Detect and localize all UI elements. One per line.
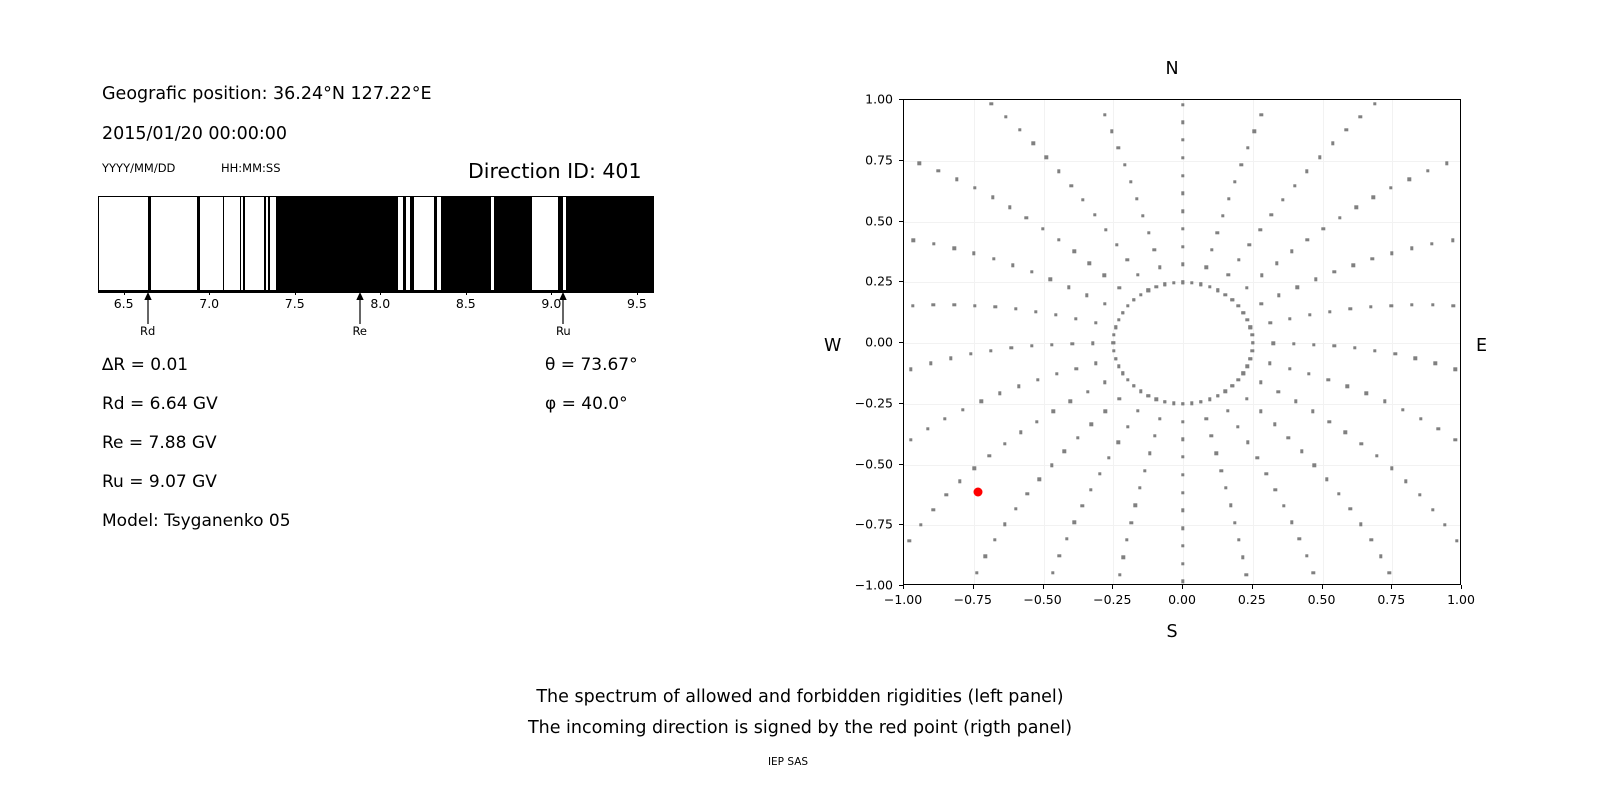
direction-dot	[1003, 522, 1006, 525]
x-axis-tick-label: −0.25	[1093, 592, 1131, 607]
direction-dot	[909, 438, 912, 441]
direction-dot	[909, 367, 912, 370]
spectrum-marker-label-re: Re	[352, 324, 367, 338]
spectrum-marker-arrow-ru	[557, 292, 570, 324]
direction-dot	[1245, 397, 1248, 400]
spectrum-tick-label: 8.5	[456, 296, 476, 311]
direction-dot	[1236, 425, 1239, 428]
forbidden-band	[410, 197, 414, 290]
direction-dot	[908, 539, 911, 542]
direction-dot	[969, 352, 972, 355]
direction-dot	[1312, 343, 1315, 346]
direction-dot	[1277, 390, 1280, 393]
x-axis-tick-label: 0.75	[1377, 592, 1405, 607]
direction-dot	[1199, 400, 1202, 403]
direction-dot	[1104, 228, 1107, 231]
direction-dot	[990, 102, 993, 105]
direction-dot	[1305, 170, 1308, 173]
direction-dot	[1072, 521, 1075, 524]
x-axis-tick-mark	[1322, 585, 1323, 589]
direction-dot	[1414, 357, 1417, 360]
x-axis-tick-label: 0.50	[1308, 592, 1336, 607]
y-axis-tick-label: 1.00	[841, 92, 893, 107]
direction-dot	[1014, 307, 1017, 310]
direction-dot	[1246, 440, 1249, 443]
spectrum-axis-line	[98, 291, 654, 293]
direction-dot	[973, 466, 976, 469]
forbidden-band	[148, 197, 151, 290]
forbidden-band	[243, 197, 245, 290]
direction-dot	[1126, 378, 1129, 381]
direction-dot	[1103, 381, 1106, 384]
direction-dot	[1121, 372, 1124, 375]
direction-dot	[1390, 251, 1393, 254]
gridline-horizontal	[904, 343, 1460, 344]
direction-dot	[1287, 436, 1290, 439]
direction-dot	[1117, 146, 1120, 149]
direction-dot	[1241, 556, 1244, 559]
direction-dot	[1258, 228, 1261, 231]
direction-dot	[1126, 304, 1129, 307]
direction-dot	[1431, 508, 1434, 511]
param-delta-r: ∆R = 0.01	[102, 355, 188, 375]
time-format-hint: HH:MM:SS	[221, 161, 281, 175]
direction-dot	[973, 304, 976, 307]
direction-dot	[1245, 573, 1248, 576]
direction-dot	[1210, 434, 1213, 437]
direction-dot	[1208, 397, 1211, 400]
direction-dot	[1226, 273, 1229, 276]
direction-dot	[1181, 227, 1184, 230]
y-axis-tick-label: −0.50	[841, 456, 893, 471]
direction-dot	[1190, 281, 1193, 284]
y-axis-tick-mark	[899, 160, 903, 161]
direction-dot	[1181, 473, 1184, 476]
direction-dot	[1153, 434, 1156, 437]
direction-dot	[1372, 196, 1375, 199]
direction-dot	[1454, 438, 1457, 441]
direction-dot	[1434, 362, 1437, 365]
direction-dot	[1216, 231, 1219, 234]
direction-dot	[1037, 478, 1040, 481]
direction-dot	[1445, 161, 1448, 164]
direction-dot	[1290, 521, 1293, 524]
direction-dot	[1057, 170, 1060, 173]
direction-dot	[1181, 580, 1184, 583]
direction-dot	[1327, 420, 1330, 423]
direction-dot	[1112, 349, 1115, 352]
direction-dot	[1249, 357, 1252, 360]
direction-dot	[1220, 469, 1223, 472]
gridline-vertical	[974, 100, 975, 584]
direction-dot	[1075, 367, 1078, 370]
direction-dot	[1277, 294, 1280, 297]
direction-dot	[1205, 417, 1208, 420]
direction-dot	[1035, 420, 1038, 423]
direction-dot	[1085, 294, 1088, 297]
direction-dot	[1118, 397, 1121, 400]
forbidden-band	[558, 197, 563, 290]
direction-dot	[1242, 372, 1245, 375]
direction-dot	[1224, 293, 1227, 296]
direction-dot	[1011, 263, 1014, 266]
direction-dot	[1259, 302, 1262, 305]
direction-dot	[1332, 270, 1335, 273]
direction-dot	[1051, 571, 1054, 574]
y-axis-tick-mark	[899, 524, 903, 525]
direction-dot	[1281, 198, 1284, 201]
direction-dot	[952, 246, 955, 249]
direction-dot	[988, 454, 991, 457]
direction-dot	[1443, 523, 1446, 526]
direction-dot	[1041, 227, 1044, 230]
direction-dot	[1034, 310, 1037, 313]
direction-dot	[1369, 538, 1372, 541]
direction-dot	[1129, 521, 1132, 524]
gridline-horizontal	[904, 161, 1460, 162]
direction-dot	[1246, 318, 1249, 321]
direction-dot	[1360, 442, 1363, 445]
direction-dot	[991, 196, 994, 199]
direction-dot	[955, 177, 958, 180]
direction-dot	[1138, 486, 1141, 489]
spectrum-marker-arrow-re	[353, 292, 366, 324]
direction-dot	[1074, 317, 1077, 320]
direction-dot	[972, 251, 975, 254]
direction-dot	[1215, 452, 1218, 455]
direction-dot	[1250, 333, 1253, 336]
spectrum-tick-mark	[551, 291, 552, 295]
direction-dot	[1237, 258, 1240, 261]
x-axis-tick-mark	[1043, 585, 1044, 589]
param-re: Re = 7.88 GV	[102, 433, 217, 453]
direction-dot	[1122, 556, 1125, 559]
direction-dot	[1227, 197, 1230, 200]
direction-dot	[1359, 522, 1362, 525]
direction-dot	[1311, 409, 1314, 412]
x-axis-tick-label: −0.75	[954, 592, 992, 607]
direction-dot	[1270, 213, 1273, 216]
direction-id-text: Direction ID: 401	[468, 159, 642, 183]
direction-dot	[1245, 286, 1248, 289]
forbidden-band	[264, 197, 266, 290]
direction-dot	[1430, 242, 1433, 245]
direction-dot	[1345, 128, 1348, 131]
direction-dot	[1221, 214, 1224, 217]
gridline-vertical	[1044, 100, 1045, 584]
direction-dot	[1181, 438, 1184, 441]
direction-dot	[932, 242, 935, 245]
direction-dot	[1181, 491, 1184, 494]
direction-dot	[1419, 417, 1422, 420]
y-axis-tick-label: 0.50	[841, 213, 893, 228]
direction-dot	[1453, 367, 1456, 370]
direction-dot	[1155, 285, 1158, 288]
direction-dot	[952, 303, 955, 306]
direction-dot	[980, 399, 983, 402]
direction-dot	[1018, 128, 1021, 131]
direction-dot	[932, 303, 935, 306]
direction-dot	[1076, 436, 1079, 439]
direction-dot	[1030, 344, 1033, 347]
direction-dot	[1070, 184, 1073, 187]
y-axis-tick-mark	[899, 403, 903, 404]
direction-dot	[1181, 209, 1184, 212]
direction-dot	[989, 349, 992, 352]
direction-dot	[1121, 311, 1124, 314]
direction-dot	[1112, 333, 1115, 336]
direction-dot	[1259, 410, 1262, 413]
direction-dot	[1418, 493, 1421, 496]
direction-dot	[1114, 326, 1117, 329]
date-format-hint: YYYY/MM/DD	[102, 161, 175, 175]
direction-dot	[1045, 155, 1048, 158]
datetime-text: 2015/01/20 00:00:00	[102, 124, 287, 144]
spectrum-tick-mark	[209, 291, 210, 295]
direction-dot	[912, 239, 915, 242]
direction-dot	[1141, 214, 1144, 217]
direction-dot	[1055, 372, 1058, 375]
direction-dot	[1181, 263, 1184, 266]
direction-dot	[961, 408, 964, 411]
spectrum-tick-mark	[637, 291, 638, 295]
param-ru: Ru = 9.07 GV	[102, 472, 217, 492]
direction-dot	[1148, 452, 1151, 455]
direction-dot	[1237, 378, 1240, 381]
direction-dot	[1146, 289, 1149, 292]
direction-dot	[1373, 349, 1376, 352]
direction-dot	[1268, 321, 1271, 324]
direction-dot	[1052, 409, 1055, 412]
direction-dot	[1010, 346, 1013, 349]
direction-dot	[1139, 293, 1142, 296]
direction-dot	[1308, 313, 1311, 316]
direction-dot	[1404, 480, 1407, 483]
direction-dot	[1344, 431, 1347, 434]
direction-dot	[1071, 342, 1074, 345]
direction-dot	[1373, 102, 1376, 105]
direction-dot	[1375, 454, 1378, 457]
direction-dot	[1431, 303, 1434, 306]
y-axis-tick-label: −0.25	[841, 395, 893, 410]
direction-dot	[1199, 283, 1202, 286]
direction-dot	[1452, 304, 1455, 307]
compass-label-east: E	[1476, 336, 1487, 356]
direction-dot	[1117, 365, 1120, 368]
direction-dot	[1229, 503, 1232, 506]
direction-dot	[926, 427, 929, 430]
direction-dot	[1369, 305, 1372, 308]
direction-dot	[1123, 163, 1126, 166]
spectrum-tick-label: 8.0	[370, 296, 390, 311]
direction-dot	[1298, 537, 1301, 540]
direction-dot	[1135, 197, 1138, 200]
forbidden-band	[494, 197, 532, 290]
direction-dot	[911, 304, 914, 307]
x-axis-tick-label: −0.50	[1023, 592, 1061, 607]
direction-dot	[1065, 537, 1068, 540]
direction-dot	[932, 508, 935, 511]
direction-dot	[1273, 423, 1276, 426]
param-phi: φ = 40.0°	[545, 394, 628, 414]
direction-dot	[1359, 115, 1362, 118]
direction-dot	[1086, 390, 1089, 393]
param-theta: θ = 73.67°	[545, 355, 638, 375]
direction-dot	[1290, 250, 1293, 253]
direction-dot	[1125, 538, 1128, 541]
direction-dot	[1348, 507, 1351, 510]
direction-dot	[1049, 278, 1052, 281]
caption-line-2: The incoming direction is signed by the …	[528, 718, 1072, 738]
direction-dot	[1451, 239, 1454, 242]
x-axis-tick-mark	[973, 585, 974, 589]
direction-dot	[917, 161, 920, 164]
gridline-vertical	[1392, 100, 1393, 584]
direction-dot	[1181, 402, 1184, 405]
direction-dot	[1313, 463, 1316, 466]
y-axis-tick-mark	[899, 464, 903, 465]
direction-dot	[937, 169, 940, 172]
direction-dot	[1307, 372, 1310, 375]
direction-dot	[1282, 504, 1285, 507]
direction-dot	[929, 362, 932, 365]
direction-dot	[1294, 400, 1297, 403]
direction-dot	[1115, 243, 1118, 246]
direction-dot	[1292, 342, 1295, 345]
direction-dot	[1426, 169, 1429, 172]
direction-dot	[1388, 571, 1391, 574]
direction-dot	[1250, 349, 1253, 352]
x-axis-tick-label: 0.25	[1238, 592, 1266, 607]
direction-dot	[1338, 216, 1341, 219]
spectrum-marker-label-ru: Ru	[556, 324, 571, 338]
rigidity-spectrum-bar	[98, 196, 654, 291]
direction-dot	[1054, 313, 1057, 316]
direction-dot	[1346, 385, 1349, 388]
direction-dot	[1246, 146, 1249, 149]
direction-dot	[1249, 326, 1252, 329]
direction-dot	[1393, 352, 1396, 355]
y-axis-tick-label: 0.00	[841, 335, 893, 350]
x-axis-tick-mark	[1182, 585, 1183, 589]
direction-dot	[1208, 285, 1211, 288]
direction-dot	[1455, 539, 1458, 542]
direction-dot	[1050, 343, 1053, 346]
direction-dot	[1224, 389, 1227, 392]
incoming-direction-point[interactable]	[973, 488, 982, 497]
direction-dot	[1181, 156, 1184, 159]
direction-dot	[1216, 394, 1219, 397]
direction-dot	[993, 538, 996, 541]
direction-dot	[1293, 184, 1296, 187]
direction-dot	[1147, 231, 1150, 234]
direction-dot	[1118, 573, 1121, 576]
caption-line-1: The spectrum of allowed and forbidden ri…	[536, 687, 1063, 707]
direction-dot	[1407, 177, 1410, 180]
forbidden-band	[566, 197, 654, 290]
direction-dot	[1081, 198, 1084, 201]
direction-dot	[1058, 554, 1061, 557]
incoming-direction-chart: −1.00−0.75−0.50−0.250.000.250.500.751.00…	[903, 99, 1461, 585]
x-axis-tick-mark	[903, 585, 904, 589]
rigidity-spectrum-chart: 6.57.07.58.08.59.09.5 RdReRu	[98, 196, 654, 291]
direction-dot	[1181, 121, 1184, 124]
direction-dot	[1275, 261, 1278, 264]
direction-dot	[1126, 425, 1129, 428]
direction-dot	[1136, 273, 1139, 276]
direction-dot	[1026, 492, 1029, 495]
direction-dot	[1181, 509, 1184, 512]
direction-dot	[1305, 554, 1308, 557]
direction-dot	[1331, 142, 1334, 145]
compass-label-west: W	[824, 336, 841, 356]
y-axis-tick-mark	[899, 585, 903, 586]
direction-dot	[945, 493, 948, 496]
direction-dot	[1104, 410, 1107, 413]
direction-dot	[1216, 289, 1219, 292]
direction-dot	[1181, 245, 1184, 248]
direction-dot	[1306, 238, 1309, 241]
direction-dot	[1117, 440, 1120, 443]
spectrum-tick-mark	[380, 291, 381, 295]
x-axis-tick-mark	[1112, 585, 1113, 589]
direction-dot	[1143, 469, 1146, 472]
direction-dot	[994, 305, 997, 308]
direction-dot	[1103, 113, 1106, 116]
direction-dot	[1237, 304, 1240, 307]
forbidden-band	[441, 197, 490, 290]
direction-dot	[1410, 303, 1413, 306]
param-model: Model: Tsyganenko 05	[102, 511, 291, 531]
direction-dot	[919, 523, 922, 526]
direction-dot	[1181, 544, 1184, 547]
x-axis-tick-label: 0.00	[1168, 592, 1196, 607]
direction-dot	[1300, 450, 1303, 453]
direction-dot	[1260, 113, 1263, 116]
direction-dot	[1163, 283, 1166, 286]
direction-dot	[1091, 341, 1094, 344]
direction-dot	[1333, 344, 1336, 347]
direction-dot	[1410, 246, 1413, 249]
direction-dot	[1181, 281, 1184, 284]
footer-credit: IEP SAS	[768, 756, 808, 768]
direction-dot	[1014, 507, 1017, 510]
gridline-vertical	[1323, 100, 1324, 584]
spectrum-tick-label: 6.5	[114, 296, 134, 311]
spectrum-tick-mark	[295, 291, 296, 295]
direction-dot	[1057, 238, 1060, 241]
direction-dot	[1268, 362, 1271, 365]
direction-dot	[1017, 385, 1020, 388]
x-axis-tick-mark	[1391, 585, 1392, 589]
direction-dot	[1132, 298, 1135, 301]
direction-dot	[1224, 486, 1227, 489]
forbidden-band	[240, 197, 242, 290]
direction-dot	[1437, 427, 1440, 430]
direction-dot	[1255, 456, 1258, 459]
direction-dot	[1089, 488, 1092, 491]
y-axis-tick-label: 0.75	[841, 152, 893, 167]
direction-dot	[1259, 381, 1262, 384]
x-axis-tick-label: −1.00	[884, 592, 922, 607]
direction-dot	[1239, 163, 1242, 166]
direction-dot	[1103, 274, 1106, 277]
direction-dot	[1132, 384, 1135, 387]
direction-dot	[984, 554, 987, 557]
compass-label-north: N	[1165, 59, 1178, 79]
y-axis-tick-mark	[899, 221, 903, 222]
direction-dot	[1003, 442, 1006, 445]
